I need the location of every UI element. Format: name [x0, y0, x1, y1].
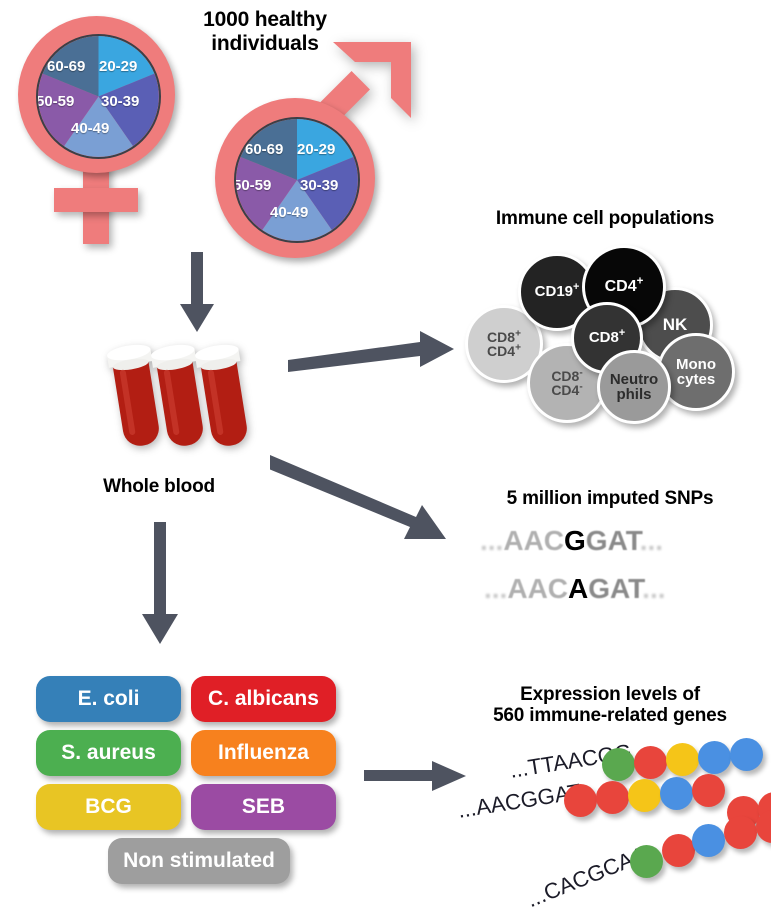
stimulation-label-e-coli: E. coli — [78, 687, 140, 711]
stimulation-pill-bcg[interactable]: BCG — [36, 784, 181, 830]
stimulation-pill-influenza[interactable]: Influenza — [191, 730, 336, 776]
female-age-label-40-49: 40-49 — [71, 120, 109, 137]
immune-heading: Immune cell populations — [450, 208, 760, 229]
stimulation-label-s-aureus: S. aureus — [61, 741, 156, 765]
snp-row2-right: GAT — [588, 573, 642, 604]
snps-sequence-block: ...AACGGAT... ...AACAGAT... — [480, 525, 750, 625]
stimulation-label-bcg: BCG — [85, 795, 132, 819]
whole-blood-tubes — [104, 338, 254, 458]
dna-strand-2-bead-5 — [692, 774, 725, 807]
dna-strand-1-bead-2 — [634, 746, 667, 779]
dna-strand-2-bead-4 — [660, 777, 693, 810]
stimulation-panel: E. coli C. albicans S. aureus Influenza … — [36, 676, 336, 896]
female-age-label-20-29: 20-29 — [99, 58, 137, 75]
dna-strand-2-bead-3 — [628, 779, 661, 812]
cell-label-CD8plus: CD8+ — [589, 330, 625, 345]
female-age-pie: 20-29 30-39 40-49 50-59 60-69 — [36, 34, 161, 159]
dna-strand-3-bead-4 — [724, 816, 757, 849]
expression-heading: Expression levels of 560 immune-related … — [455, 684, 765, 727]
snp-row1-right: GAT — [586, 525, 640, 556]
snp-row2-prefix: ... — [484, 573, 507, 604]
dna-strand-1-bead-1 — [602, 748, 635, 781]
snp-allele-row-2: ...AACAGAT... — [484, 573, 666, 605]
dna-strand-3-bead-3 — [692, 824, 725, 857]
stimulation-label-seb: SEB — [242, 795, 285, 819]
stimulation-label-influenza: Influenza — [218, 741, 309, 765]
cell-Neutrophils: Neutrophils — [597, 350, 671, 424]
whole-blood-label: Whole blood — [84, 476, 234, 497]
dna-strand-1-bead-4 — [698, 741, 731, 774]
snp-row1-variant: G — [564, 525, 586, 556]
male-age-label-30-39: 30-39 — [300, 177, 338, 194]
dna-strand-2-bead-1 — [564, 784, 597, 817]
blood-tubes-svg — [104, 338, 254, 458]
stimulation-label-non-stimulated: Non stimulated — [123, 849, 275, 873]
stimulation-pill-e-coli[interactable]: E. coli — [36, 676, 181, 722]
expression-heading-line2: 560 immune-related genes — [455, 705, 765, 726]
expression-heading-line1: Expression levels of — [455, 684, 765, 705]
male-gender-symbol: 20-29 30-39 40-49 50-59 60-69 — [205, 40, 435, 260]
snp-allele-row-1: ...AACGGAT... — [480, 525, 663, 557]
dna-strand-3-bead-2 — [662, 834, 695, 867]
snp-row1-left: AAC — [503, 525, 564, 556]
male-age-label-20-29: 20-29 — [297, 141, 335, 158]
snp-row1-prefix: ... — [480, 525, 503, 556]
figure-canvas: 1000 healthy individuals 20-29 30-39 40-… — [0, 0, 771, 922]
male-age-label-60-69: 60-69 — [245, 141, 283, 158]
male-age-label-40-49: 40-49 — [270, 204, 308, 221]
dna-strand-2-bead-2 — [596, 781, 629, 814]
snp-row2-suffix: ... — [642, 573, 665, 604]
female-symbol-crossbar — [54, 188, 138, 212]
cell-label-CD19plus: CD19+ — [535, 284, 580, 299]
female-age-label-60-69: 60-69 — [47, 58, 85, 75]
expression-dna-strands: ...TTAACGG ...AACGGAT ...CACGCAA — [440, 740, 771, 920]
cell-label-CD8plus-CD4plus: CD8+ CD4+ — [487, 330, 521, 359]
female-age-label-30-39: 30-39 — [101, 93, 139, 110]
immune-cell-cluster: CD8+ CD4+ CD19+ NK CD4+ CD8- CD4- C — [455, 245, 755, 410]
dna-strand-1-bead-3 — [666, 743, 699, 776]
stimulation-pill-seb[interactable]: SEB — [191, 784, 336, 830]
cell-label-NK: NK — [663, 316, 688, 333]
arrow-blood-to-stimulations — [136, 522, 186, 646]
male-age-pie: 20-29 30-39 40-49 50-59 60-69 — [234, 117, 360, 243]
snp-row2-variant: A — [568, 573, 588, 604]
snp-row2-left: AAC — [507, 573, 568, 604]
dna-strand-1-bead-5 — [730, 738, 763, 771]
female-gender-symbol: 20-29 30-39 40-49 50-59 60-69 — [10, 8, 200, 238]
cell-label-Neutrophils: Neutrophils — [610, 372, 658, 403]
snps-heading: 5 million imputed SNPs — [465, 488, 755, 509]
stimulation-pill-non-stimulated[interactable]: Non stimulated — [108, 838, 290, 884]
female-age-label-50-59: 50-59 — [36, 93, 74, 110]
arrow-cohort-to-blood — [172, 252, 224, 334]
arrow-blood-to-immune — [288, 330, 456, 380]
male-age-label-50-59: 50-59 — [234, 177, 271, 194]
snp-row1-suffix: ... — [640, 525, 663, 556]
stimulation-pill-c-albicans[interactable]: C. albicans — [191, 676, 336, 722]
stimulation-pill-s-aureus[interactable]: S. aureus — [36, 730, 181, 776]
arrow-blood-to-snps — [270, 455, 448, 547]
stimulation-label-c-albicans: C. albicans — [208, 687, 319, 711]
cell-label-CD8minus-CD4minus: CD8- CD4- — [551, 369, 582, 398]
dna-strand-3-bead-1 — [630, 845, 663, 878]
cell-label-Monocytes: Monocytes — [676, 357, 716, 388]
cell-label-CD4plus: CD4+ — [605, 279, 644, 295]
